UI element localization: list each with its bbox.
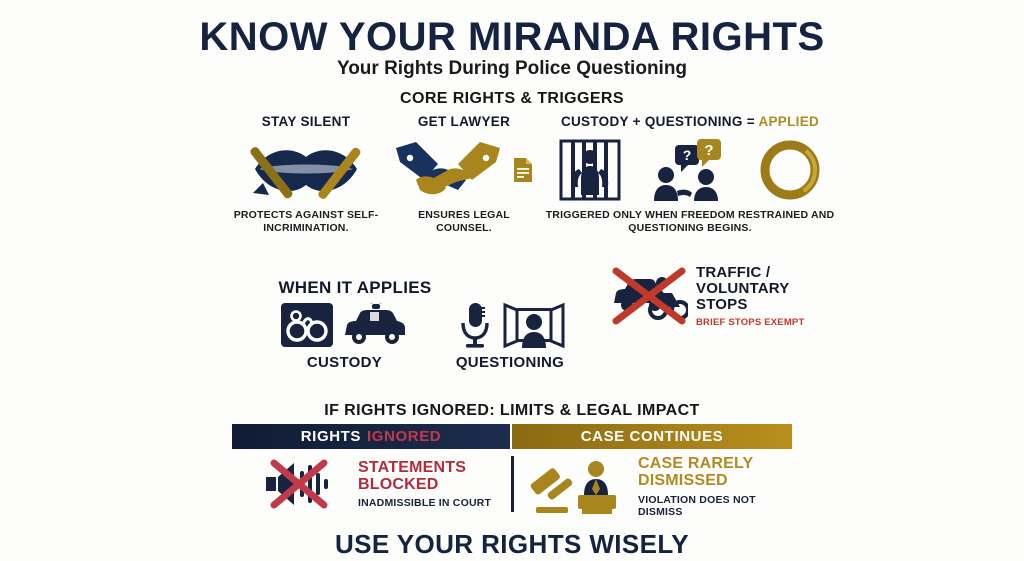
svg-text:?: ? [704,142,713,159]
core-column-label-accent: APPLIED [758,114,819,129]
handshake-icon [394,138,502,202]
person-behind-bars-icon [559,139,621,201]
when-applies-item-questioning: QUESTIONING [440,300,580,371]
impact-item-title: CASE RARELY DISMISSED [638,455,793,490]
when-applies-label: QUESTIONING [440,354,580,371]
core-column-label: CUSTODY + QUESTIONING = APPLIED [540,114,840,129]
impact-item-subtitle: VIOLATION DOES NOT DISMISS [638,494,793,518]
gavel-judge-icon [528,457,628,515]
core-column-label-prefix: CUSTODY + QUESTIONING = [561,114,759,129]
impact-bar-label: CASE CONTINUES [581,428,724,445]
core-column-get-lawyer: GET LAWYER [390,114,538,235]
impact-item-statements-blocked: STATEMENTS BLOCKED INADMISSIBLE IN COURT [262,455,512,513]
traffic-stops-block: TRAFFIC / VOLUNTARY STOPS BRIEF STOPS EX… [610,265,840,328]
page-title: KNOW YOUR MIRANDA RIGHTS [0,16,1024,58]
core-column-icons [390,137,538,203]
two-people-question-bubbles-icon: ? ? [649,139,731,201]
impact-item-text: CASE RARELY DISMISSED VIOLATION DOES NOT… [638,455,793,518]
when-applies-icons [272,300,417,350]
traffic-stops-subtitle: BRIEF STOPS EXEMPT [696,317,840,328]
impact-bar-label-prefix: RIGHTS [301,428,361,445]
interrogation-person-icon [503,301,565,349]
microphone-icon [456,301,494,349]
impact-item-subtitle: INADMISSIBLE IN COURT [358,497,512,509]
when-applies-heading: WHEN IT APPLIES [255,278,455,298]
crossed-out-vehicles-icon [610,265,688,327]
section-heading-impact: IF RIGHTS IGNORED: LIMITS & LEGAL IMPACT [0,402,1024,420]
impact-bar-rights-ignored: RIGHTS IGNORED [232,424,510,449]
core-column-description: TRIGGERED ONLY WHEN FREEDOM RESTRAINED A… [540,209,840,235]
police-car-icon [342,303,408,347]
traffic-stops-text: TRAFFIC / VOLUNTARY STOPS BRIEF STOPS EX… [696,265,840,328]
lips-crossed-out-icon [247,139,365,201]
traffic-stops-title: TRAFFIC / VOLUNTARY STOPS [696,265,840,314]
gold-ring-icon [759,139,821,201]
impact-item-case-rarely-dismissed: CASE RARELY DISMISSED VIOLATION DOES NOT… [528,455,793,518]
impact-bar-label-accent: IGNORED [367,428,441,445]
core-column-label: STAY SILENT [228,114,384,129]
handcuffs-icon [281,303,333,347]
page-subtitle: Your Rights During Police Questioning [0,58,1024,80]
core-column-description: ENSURES LEGAL COUNSEL. [390,209,538,235]
impact-bar-case-continues: CASE CONTINUES [512,424,792,449]
core-column-label: GET LAWYER [390,114,538,129]
infographic-canvas: KNOW YOUR MIRANDA RIGHTS Your Rights Dur… [0,0,1024,561]
footer-tagline: USE YOUR RIGHTS WISELY [0,529,1024,560]
muted-speaker-icon [262,455,348,513]
when-applies-label: CUSTODY [272,354,417,371]
core-column-stay-silent: STAY SILENT PROTECTS AGAINST SELF-INCRIM… [228,114,384,235]
core-column-description: PROTECTS AGAINST SELF-INCRIMINATION. [228,209,384,235]
impact-item-text: STATEMENTS BLOCKED INADMISSIBLE IN COURT [358,459,512,510]
core-column-icons [228,137,384,203]
when-applies-item-custody: CUSTODY [272,300,417,371]
impact-item-title: STATEMENTS BLOCKED [358,459,512,494]
section-heading-core-rights: CORE RIGHTS & TRIGGERS [0,90,1024,108]
core-column-icons: ? ? [540,137,840,203]
legal-document-icon [512,156,534,184]
when-applies-icons [440,300,580,350]
core-column-custody-questioning: CUSTODY + QUESTIONING = APPLIED [540,114,840,235]
svg-text:?: ? [683,147,692,163]
